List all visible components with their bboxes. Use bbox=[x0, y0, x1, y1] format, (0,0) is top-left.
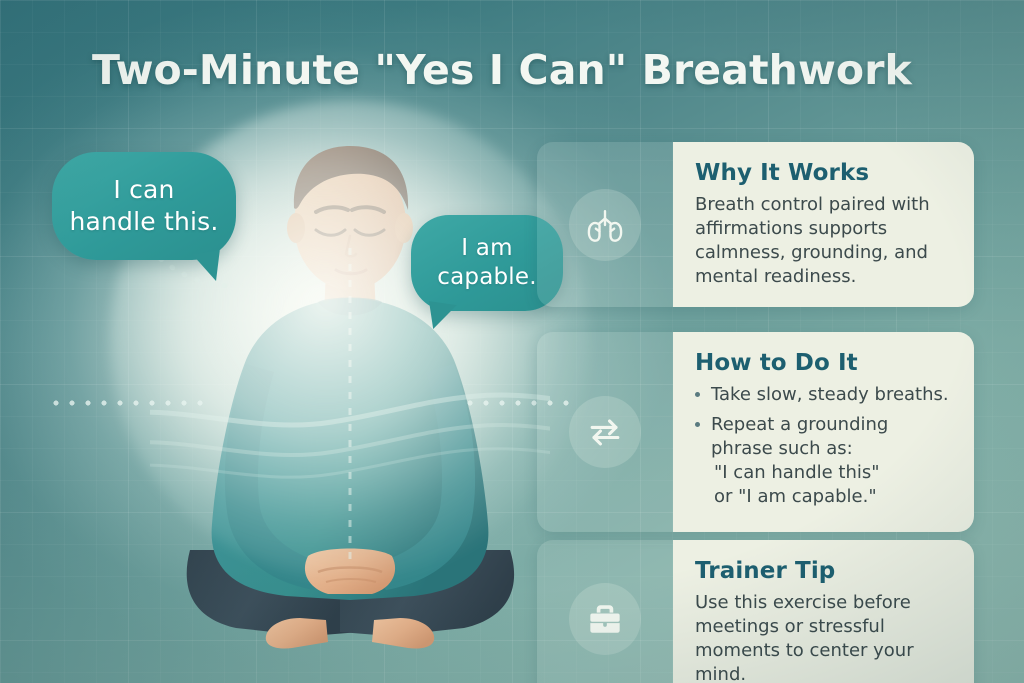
card-2-icon-circle bbox=[569, 396, 641, 468]
card-3-text: Use this exercise before meetings or str… bbox=[695, 591, 954, 683]
card-2-icon-pane bbox=[537, 332, 673, 532]
list-item-subline: "I can handle this" bbox=[711, 461, 954, 485]
speech-bubble-i-can-handle-this: I can handle this. bbox=[52, 152, 236, 260]
lungs-icon bbox=[583, 203, 627, 247]
card-2-body: How to Do It Take slow, steady breaths. … bbox=[673, 332, 974, 532]
list-item: Repeat a grounding phrase such as: "I ca… bbox=[695, 413, 954, 509]
card-2-list: Take slow, steady breaths. Repeat a grou… bbox=[695, 383, 954, 509]
card-1-icon-pane bbox=[537, 142, 673, 307]
card-3-icon-circle bbox=[569, 583, 641, 655]
card-3-title: Trainer Tip bbox=[695, 558, 954, 584]
list-item-text: Repeat a grounding phrase such as: bbox=[711, 414, 888, 459]
card-1-title: Why It Works bbox=[695, 160, 954, 186]
infographic-canvas: Two-Minute "Yes I Can" Breathwork I can … bbox=[0, 0, 1024, 683]
card-1-icon-circle bbox=[569, 189, 641, 261]
list-item-text: Take slow, steady breaths. bbox=[711, 384, 949, 405]
card-3-body: Trainer Tip Use this exercise before mee… bbox=[673, 540, 974, 683]
speech-bubble-1-tail bbox=[192, 250, 224, 284]
speech-bubble-2-text: I am capable. bbox=[437, 234, 537, 293]
bullet-dot-icon bbox=[695, 422, 700, 427]
bullet-dot-icon bbox=[695, 392, 700, 397]
speech-bubble-1-text: I can handle this. bbox=[69, 174, 218, 238]
card-2-title: How to Do It bbox=[695, 350, 954, 376]
page-title: Two-Minute "Yes I Can" Breathwork bbox=[92, 46, 952, 94]
card-1-text: Breath control paired with affirmations … bbox=[695, 193, 954, 289]
speech-bubble-2-tail bbox=[425, 301, 456, 332]
card-3-icon-pane bbox=[537, 540, 673, 683]
card-trainer-tip[interactable]: Trainer Tip Use this exercise before mee… bbox=[537, 540, 974, 683]
exchange-arrows-icon bbox=[583, 410, 627, 454]
card-why-it-works[interactable]: Why It Works Breath control paired with … bbox=[537, 142, 974, 307]
card-1-body: Why It Works Breath control paired with … bbox=[673, 142, 974, 307]
list-item-subline: or "I am capable." bbox=[711, 485, 954, 509]
list-item: Take slow, steady breaths. bbox=[695, 383, 954, 407]
briefcase-icon bbox=[583, 597, 627, 641]
card-how-to-do-it[interactable]: How to Do It Take slow, steady breaths. … bbox=[537, 332, 974, 532]
